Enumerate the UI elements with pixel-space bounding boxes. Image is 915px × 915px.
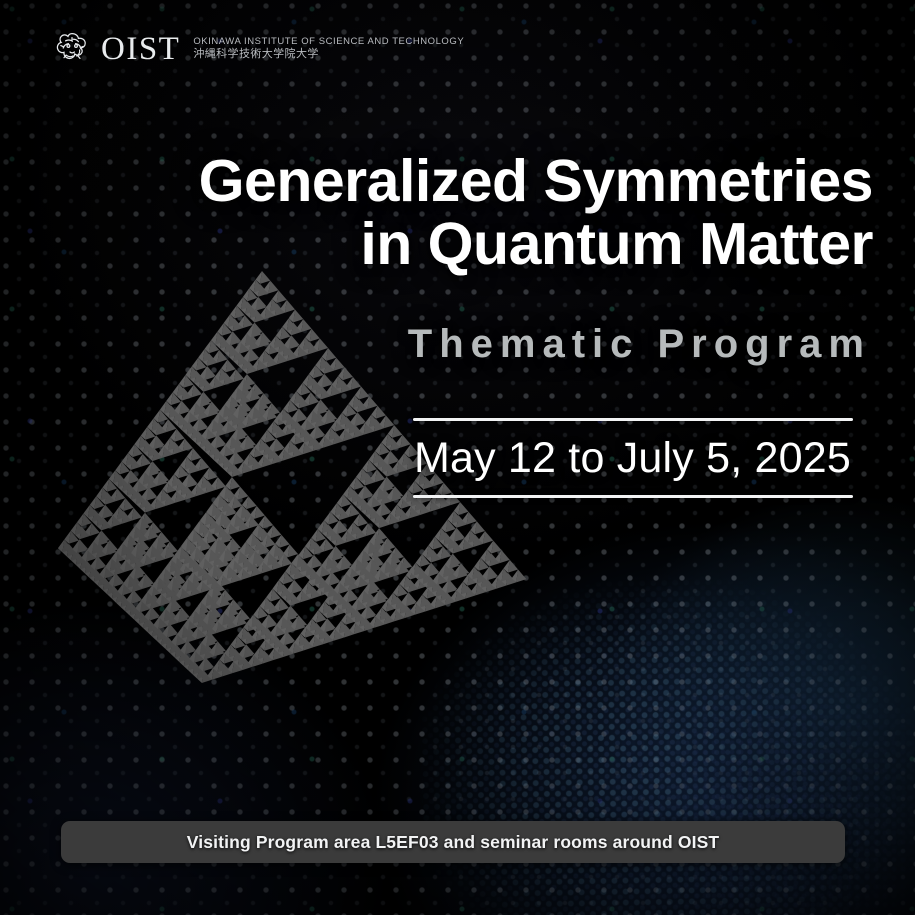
venue-banner: Visiting Program area L5EF03 and seminar… — [61, 821, 845, 863]
institution-name-jp: 沖縄科学技術大学院大学 — [193, 48, 464, 62]
oist-institution-name: OKINAWA INSTITUTE OF SCIENCE AND TECHNOL… — [193, 36, 464, 62]
title-line-2: in Quantum Matter — [0, 213, 873, 276]
date-block: May 12 to July 5, 2025 — [413, 418, 853, 498]
poster: OIST OKINAWA INSTITUTE OF SCIENCE AND TE… — [0, 0, 915, 915]
page-title: Generalized Symmetries in Quantum Matter — [0, 150, 873, 275]
oist-wordmark: OIST — [101, 33, 180, 66]
venue-text: Visiting Program area L5EF03 and seminar… — [187, 832, 720, 853]
event-dates: May 12 to July 5, 2025 — [413, 421, 853, 495]
oist-logo: OIST OKINAWA INSTITUTE OF SCIENCE AND TE… — [52, 28, 464, 68]
institution-name-en: OKINAWA INSTITUTE OF SCIENCE AND TECHNOL… — [193, 36, 464, 48]
subtitle: Thematic Program — [408, 322, 871, 367]
title-line-1: Generalized Symmetries — [199, 148, 873, 214]
date-rule-bottom — [413, 495, 853, 498]
oist-shisa-mark-icon — [52, 28, 92, 68]
